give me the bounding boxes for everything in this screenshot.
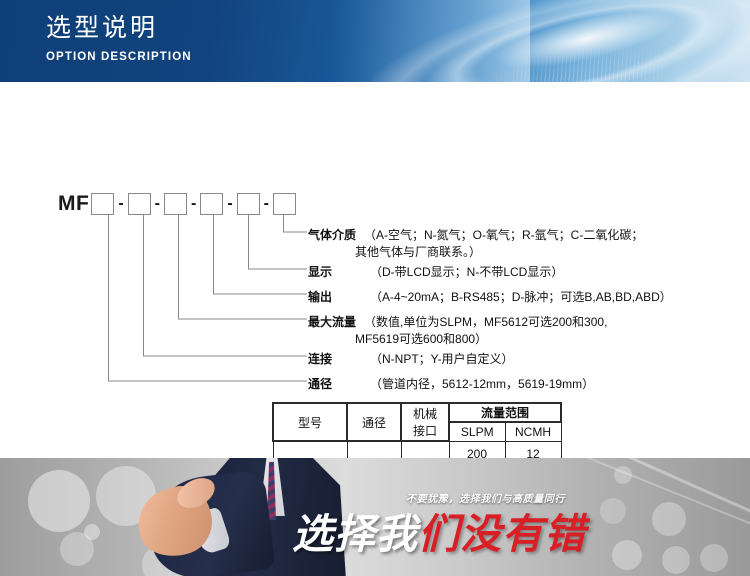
header-text-block: 选型说明 OPTION DESCRIPTION — [46, 12, 192, 63]
annotation-display: 显示（D-带LCD显示；N-不带LCD显示） — [308, 263, 563, 280]
col-header-mech-interface: 机械 接口 — [401, 403, 449, 441]
col-header-mech-line2: 接口 — [402, 422, 448, 439]
bokeh-circle — [662, 546, 690, 574]
annotation-max-flow-value: （数值,单位为SLPM，MF5612可选200和300, — [364, 315, 607, 329]
bokeh-circle — [28, 470, 90, 532]
col-header-mech-line1: 机械 — [402, 405, 448, 422]
annotation-output: 输出（A-4~20mA；B-RS485；D-脉冲；可选B,AB,BD,ABD） — [308, 288, 672, 305]
annotation-gas-media-value2: 其他气体与厂商联系。） — [355, 243, 481, 260]
annotation-display-label: 显示 — [308, 263, 370, 280]
annotation-output-value: （A-4~20mA；B-RS485；D-脉冲；可选B,AB,BD,ABD） — [370, 290, 672, 304]
table-header-row-1: 型号 通径 机械 接口 流量范围 — [273, 403, 561, 422]
bokeh-circle — [614, 466, 632, 484]
annotation-display-value: （D-带LCD显示；N-不带LCD显示） — [370, 265, 563, 279]
bokeh-circle — [700, 544, 728, 572]
annotation-connection-value: （N-NPT；Y-用户自定义） — [370, 352, 514, 366]
col-header-slpm: SLPM — [449, 422, 505, 441]
banner-slogan: 选择我们没有错 — [292, 500, 586, 560]
page-title: 选型说明 — [46, 12, 192, 44]
annotation-max-flow-value2: MF5619可选600和800） — [355, 330, 487, 347]
annotation-bore: 通径（管道内径，5612-12mm，5619-19mm） — [308, 375, 594, 392]
annotation-gas-media-label: 气体介质 — [308, 226, 364, 243]
page-header: 选型说明 OPTION DESCRIPTION — [0, 0, 750, 82]
header-ripple-graphic — [350, 0, 750, 82]
model-code-diagram: MF - - - - - 气体介质（A-空气；N-氮气；O-氧气 — [0, 82, 750, 458]
annotation-gas-media-value: （A-空气；N-氮气；O-氧气；R-氩气；C-二氧化碳； — [364, 228, 643, 242]
col-header-ncmh: NCMH — [505, 422, 561, 441]
col-header-bore: 通径 — [347, 403, 401, 441]
annotation-max-flow: 最大流量（数值,单位为SLPM，MF5612可选200和300, — [308, 313, 607, 330]
banner-slogan-white: 选择我 — [292, 510, 418, 558]
col-header-model: 型号 — [273, 403, 347, 441]
col-header-flow-range: 流量范围 — [449, 403, 561, 422]
header-ripple-lines — [402, 0, 748, 82]
annotation-bore-label: 通径 — [308, 375, 370, 392]
annotation-connection-label: 连接 — [308, 350, 370, 367]
annotation-bore-value: （管道内径，5612-12mm，5619-19mm） — [370, 377, 594, 391]
annotation-gas-media: 气体介质（A-空气；N-氮气；O-氧气；R-氩气；C-二氧化碳； — [308, 226, 643, 243]
annotation-output-label: 输出 — [308, 288, 370, 305]
annotation-connection: 连接（N-NPT；Y-用户自定义） — [308, 350, 514, 367]
annotation-max-flow-label: 最大流量 — [308, 313, 364, 330]
bokeh-circle — [612, 540, 642, 570]
bokeh-circle — [652, 502, 686, 536]
banner-slogan-red: 们没有错 — [418, 510, 586, 558]
header-cloud-gradient — [330, 0, 530, 82]
page-subtitle: OPTION DESCRIPTION — [46, 51, 192, 63]
bokeh-circle — [84, 524, 100, 540]
bokeh-circle — [600, 498, 626, 524]
